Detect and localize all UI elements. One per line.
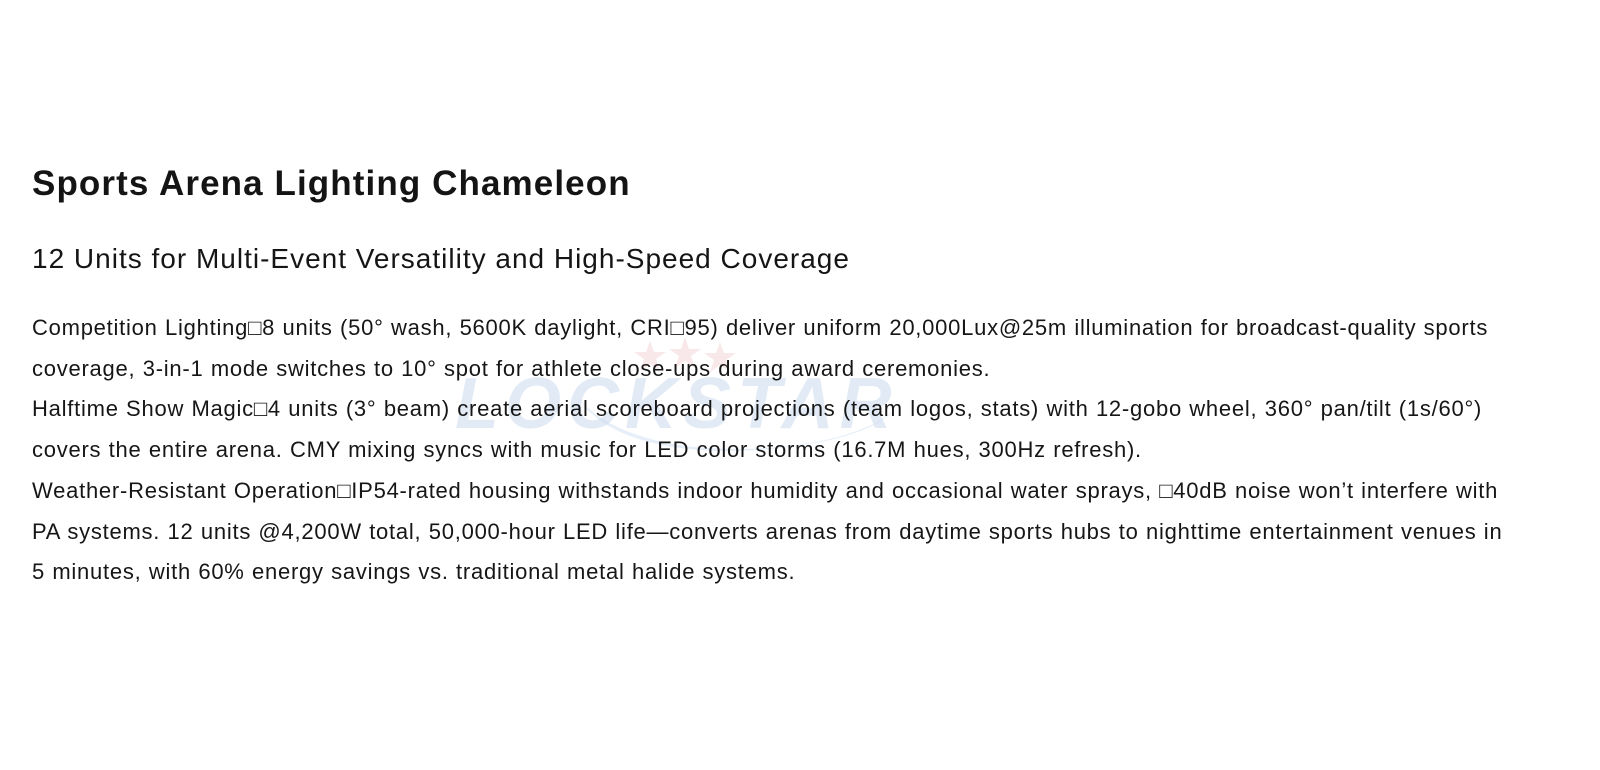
page-title: Sports Arena Lighting Chameleon xyxy=(32,162,631,206)
paragraph-weather-resistant-operation: Weather-Resistant Operation□IP54-rated h… xyxy=(32,471,1512,593)
paragraph-halftime-show-magic: Halftime Show Magic□4 units (3° beam) cr… xyxy=(32,389,1512,470)
page-subtitle: 12 Units for Multi-Event Versatility and… xyxy=(32,241,850,277)
paragraph-competition-lighting: Competition Lighting□8 units (50° wash, … xyxy=(32,308,1512,389)
body-content: Competition Lighting□8 units (50° wash, … xyxy=(32,308,1512,593)
